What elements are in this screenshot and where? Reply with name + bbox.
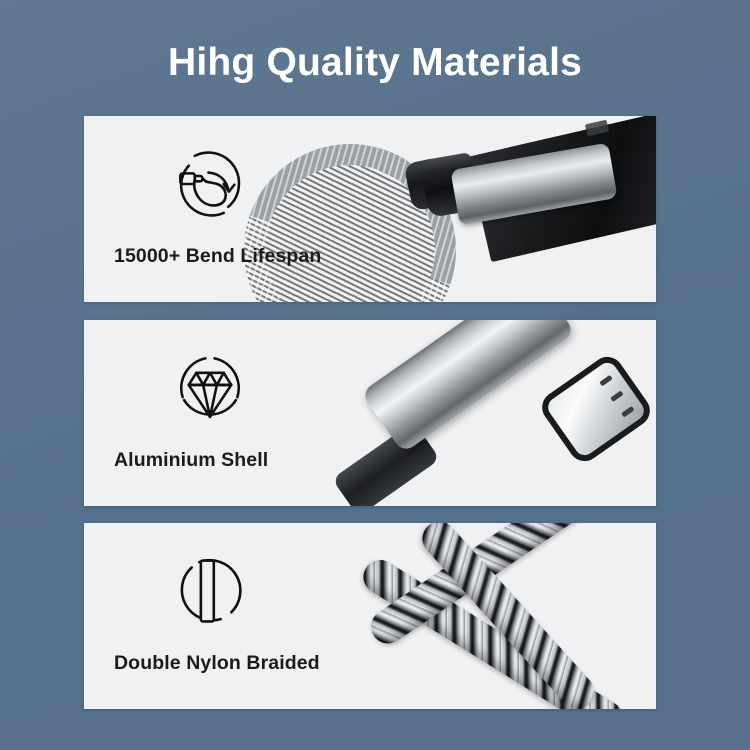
feature-panel-double-nylon-braided: Double Nylon Braided xyxy=(84,523,656,709)
feature-label-bend-lifespan: 15000+ Bend Lifespan xyxy=(114,245,321,268)
cable-bend-icon xyxy=(172,146,248,222)
feature-panel-bend-lifespan: 15000+ Bend Lifespan xyxy=(84,116,656,302)
usbc-pin xyxy=(599,375,613,387)
usbc-tip xyxy=(536,351,656,468)
page-title: Hihg Quality Materials xyxy=(0,39,750,87)
photo-braided-cable-connector xyxy=(326,116,656,302)
braid-strip-circle-icon xyxy=(172,553,248,629)
usbc-assembly xyxy=(364,324,656,506)
usbc-pin xyxy=(610,390,624,402)
feature-label-aluminium-shell: Aluminium Shell xyxy=(114,449,268,472)
feature-label-double-nylon-braided: Double Nylon Braided xyxy=(114,652,320,675)
aluminium-barrel xyxy=(361,320,575,453)
usbc-pin xyxy=(621,406,635,418)
photo-usbc-connector xyxy=(356,320,656,506)
feature-panel-aluminium-shell: Aluminium Shell xyxy=(84,320,656,506)
diamond-gem-icon xyxy=(172,350,248,426)
product-feature-poster: Hihg Quality Materials xyxy=(0,0,750,750)
photo-crossed-braided-cords xyxy=(356,523,656,709)
